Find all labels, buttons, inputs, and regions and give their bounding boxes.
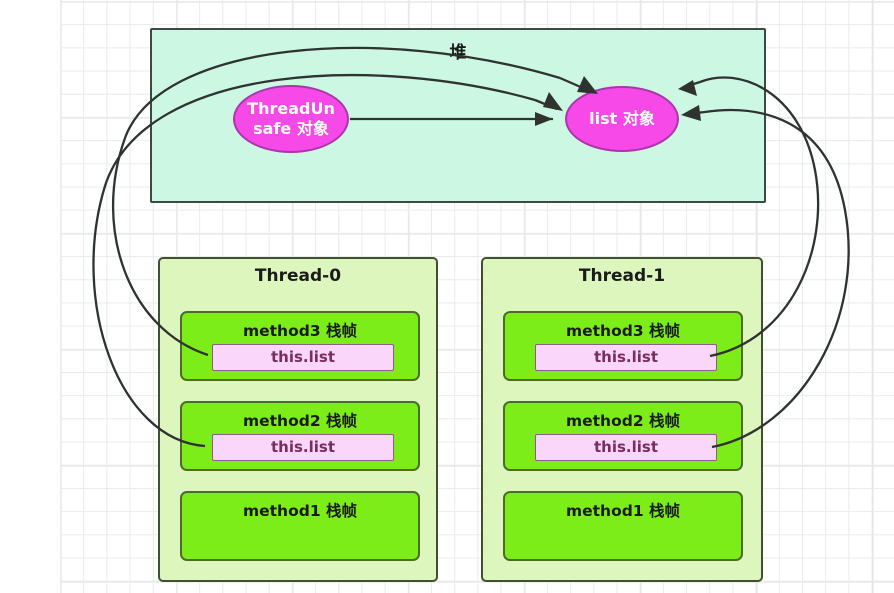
thread-0-frame-method3-field[interactable]: this.list bbox=[212, 344, 394, 371]
thread-0-label: Thread-0 bbox=[160, 266, 436, 286]
thread-1-stack: Thread-1 method3 栈帧 this.list method2 栈帧… bbox=[481, 257, 763, 582]
threadunsafe-object-line1: ThreadUn bbox=[247, 99, 335, 119]
thread-0-stack: Thread-0 method3 栈帧 this.list method2 栈帧… bbox=[158, 257, 438, 582]
list-object[interactable]: list 对象 bbox=[565, 86, 679, 152]
thread-0-frame-method1[interactable]: method1 栈帧 bbox=[180, 491, 420, 561]
thread-1-frame-method3-field[interactable]: this.list bbox=[535, 344, 717, 371]
thread-1-frame-method2-field[interactable]: this.list bbox=[535, 434, 717, 461]
thread-0-frame-method2-label: method2 栈帧 bbox=[182, 409, 418, 431]
list-object-label: list 对象 bbox=[589, 109, 655, 129]
thread-1-frame-method3-label: method3 栈帧 bbox=[505, 319, 741, 341]
thread-1-frame-method3[interactable]: method3 栈帧 this.list bbox=[503, 311, 743, 381]
thread-1-label: Thread-1 bbox=[483, 266, 761, 286]
thread-1-frame-method2[interactable]: method2 栈帧 this.list bbox=[503, 401, 743, 471]
thread-1-frame-method2-label: method2 栈帧 bbox=[505, 409, 741, 431]
thread-0-frame-method2-field[interactable]: this.list bbox=[212, 434, 394, 461]
thread-1-frame-method1[interactable]: method1 栈帧 bbox=[503, 491, 743, 561]
thread-0-frame-method3[interactable]: method3 栈帧 this.list bbox=[180, 311, 420, 381]
thread-1-frame-method1-label: method1 栈帧 bbox=[505, 499, 741, 521]
thread-0-frame-method3-label: method3 栈帧 bbox=[182, 319, 418, 341]
thread-0-frame-method2[interactable]: method2 栈帧 this.list bbox=[180, 401, 420, 471]
threadunsafe-object-line2: safe 对象 bbox=[247, 119, 335, 139]
diagram-canvas: 堆 ThreadUn safe 对象 list 对象 Thread-0 meth… bbox=[0, 0, 894, 593]
thread-0-frame-method1-label: method1 栈帧 bbox=[182, 499, 418, 521]
heap-label: 堆 bbox=[152, 38, 764, 63]
threadunsafe-object[interactable]: ThreadUn safe 对象 bbox=[233, 85, 349, 153]
